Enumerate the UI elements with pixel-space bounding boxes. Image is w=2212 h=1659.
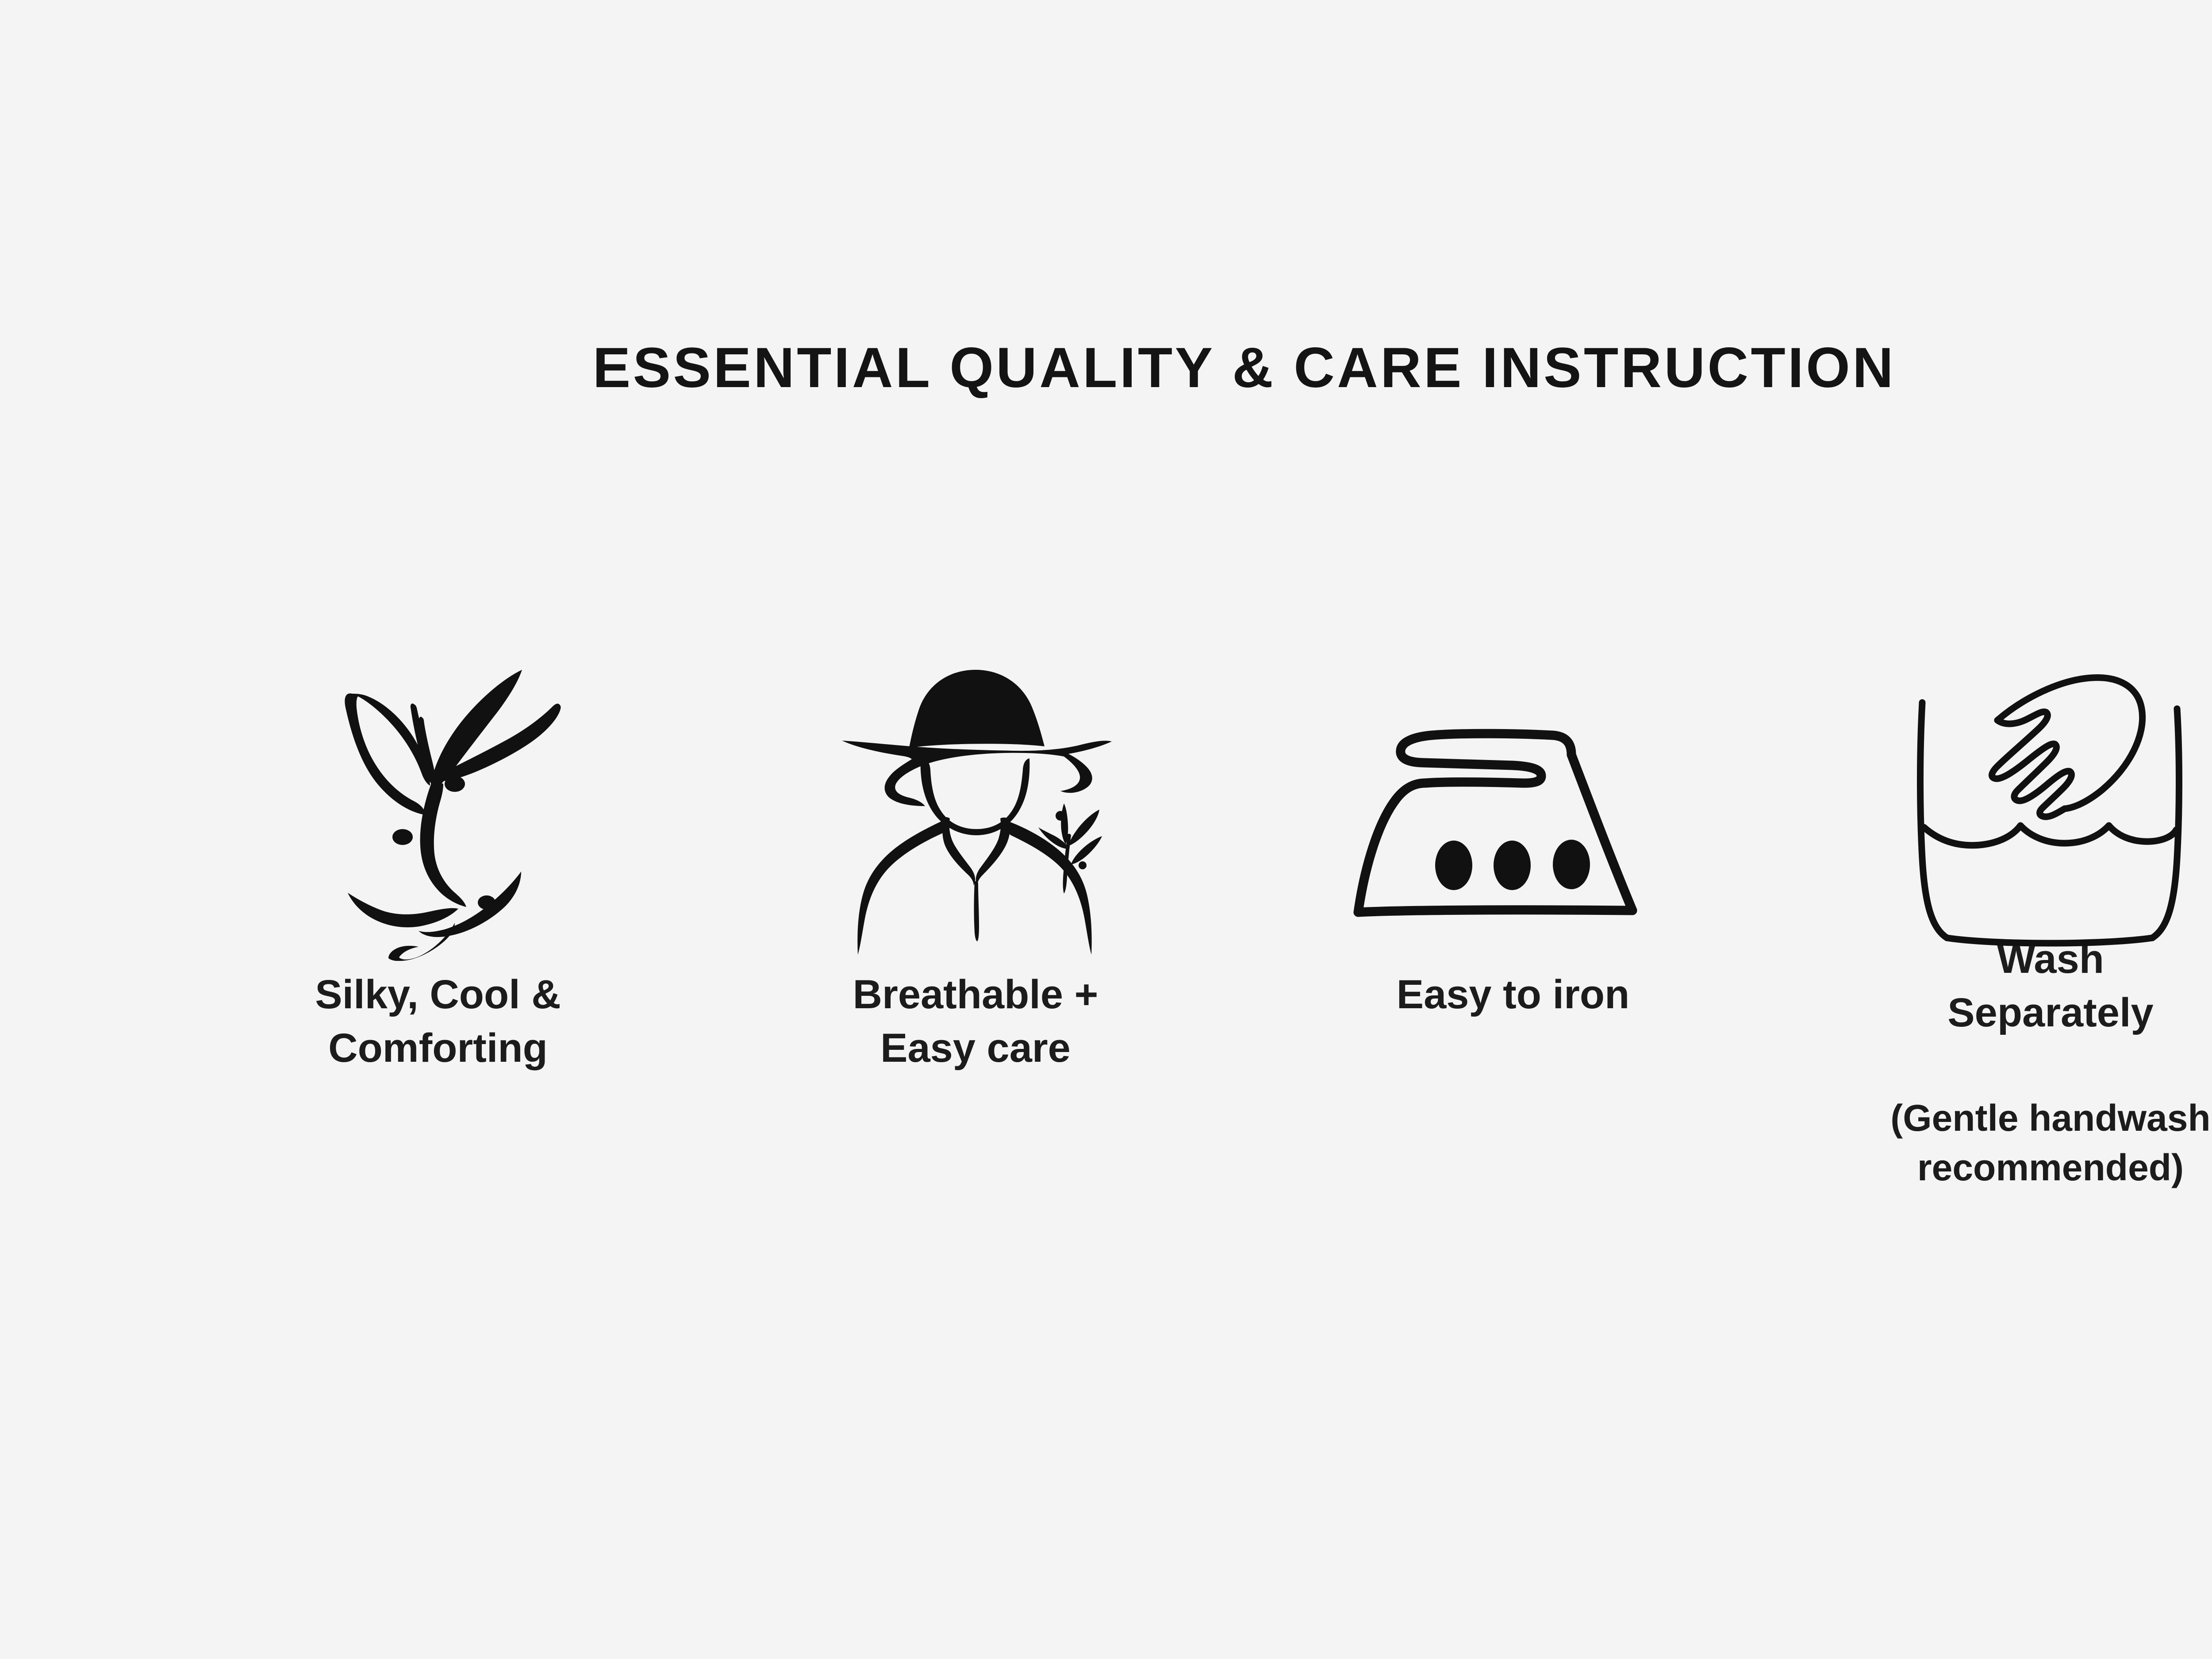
- feature-caption: Breathable + Easy care: [803, 968, 1148, 1075]
- feature-item-silky-cool-comforting: Silky, Cool & Comforting: [169, 641, 707, 1075]
- feature-item-wash-separately: Wash Separately (Gentle handwash recomme…: [1782, 641, 2212, 1193]
- page-title: ESSENTIAL QUALITY & CARE INSTRUCTION: [0, 335, 2212, 400]
- clothes-iron-icon: [1244, 655, 1782, 973]
- feature-list: Silky, Cool & Comforting: [0, 641, 2212, 1193]
- feature-item-easy-to-iron: Easy to iron: [1244, 641, 1782, 1022]
- care-instruction-page: ESSENTIAL QUALITY & CARE INSTRUCTION: [0, 0, 2212, 1659]
- feature-caption: Easy to iron: [1340, 968, 1686, 1022]
- handwash-basin-icon: [1782, 646, 2212, 964]
- feature-item-breathable-easy-care: Breathable + Easy care: [707, 641, 1244, 1075]
- feature-caption: Silky, Cool & Comforting: [265, 968, 611, 1075]
- farmer-with-hat-icon: [707, 649, 1244, 968]
- sprout-plant-icon: [169, 647, 707, 965]
- feature-subcaption: (Gentle handwash recommended): [1827, 1093, 2212, 1193]
